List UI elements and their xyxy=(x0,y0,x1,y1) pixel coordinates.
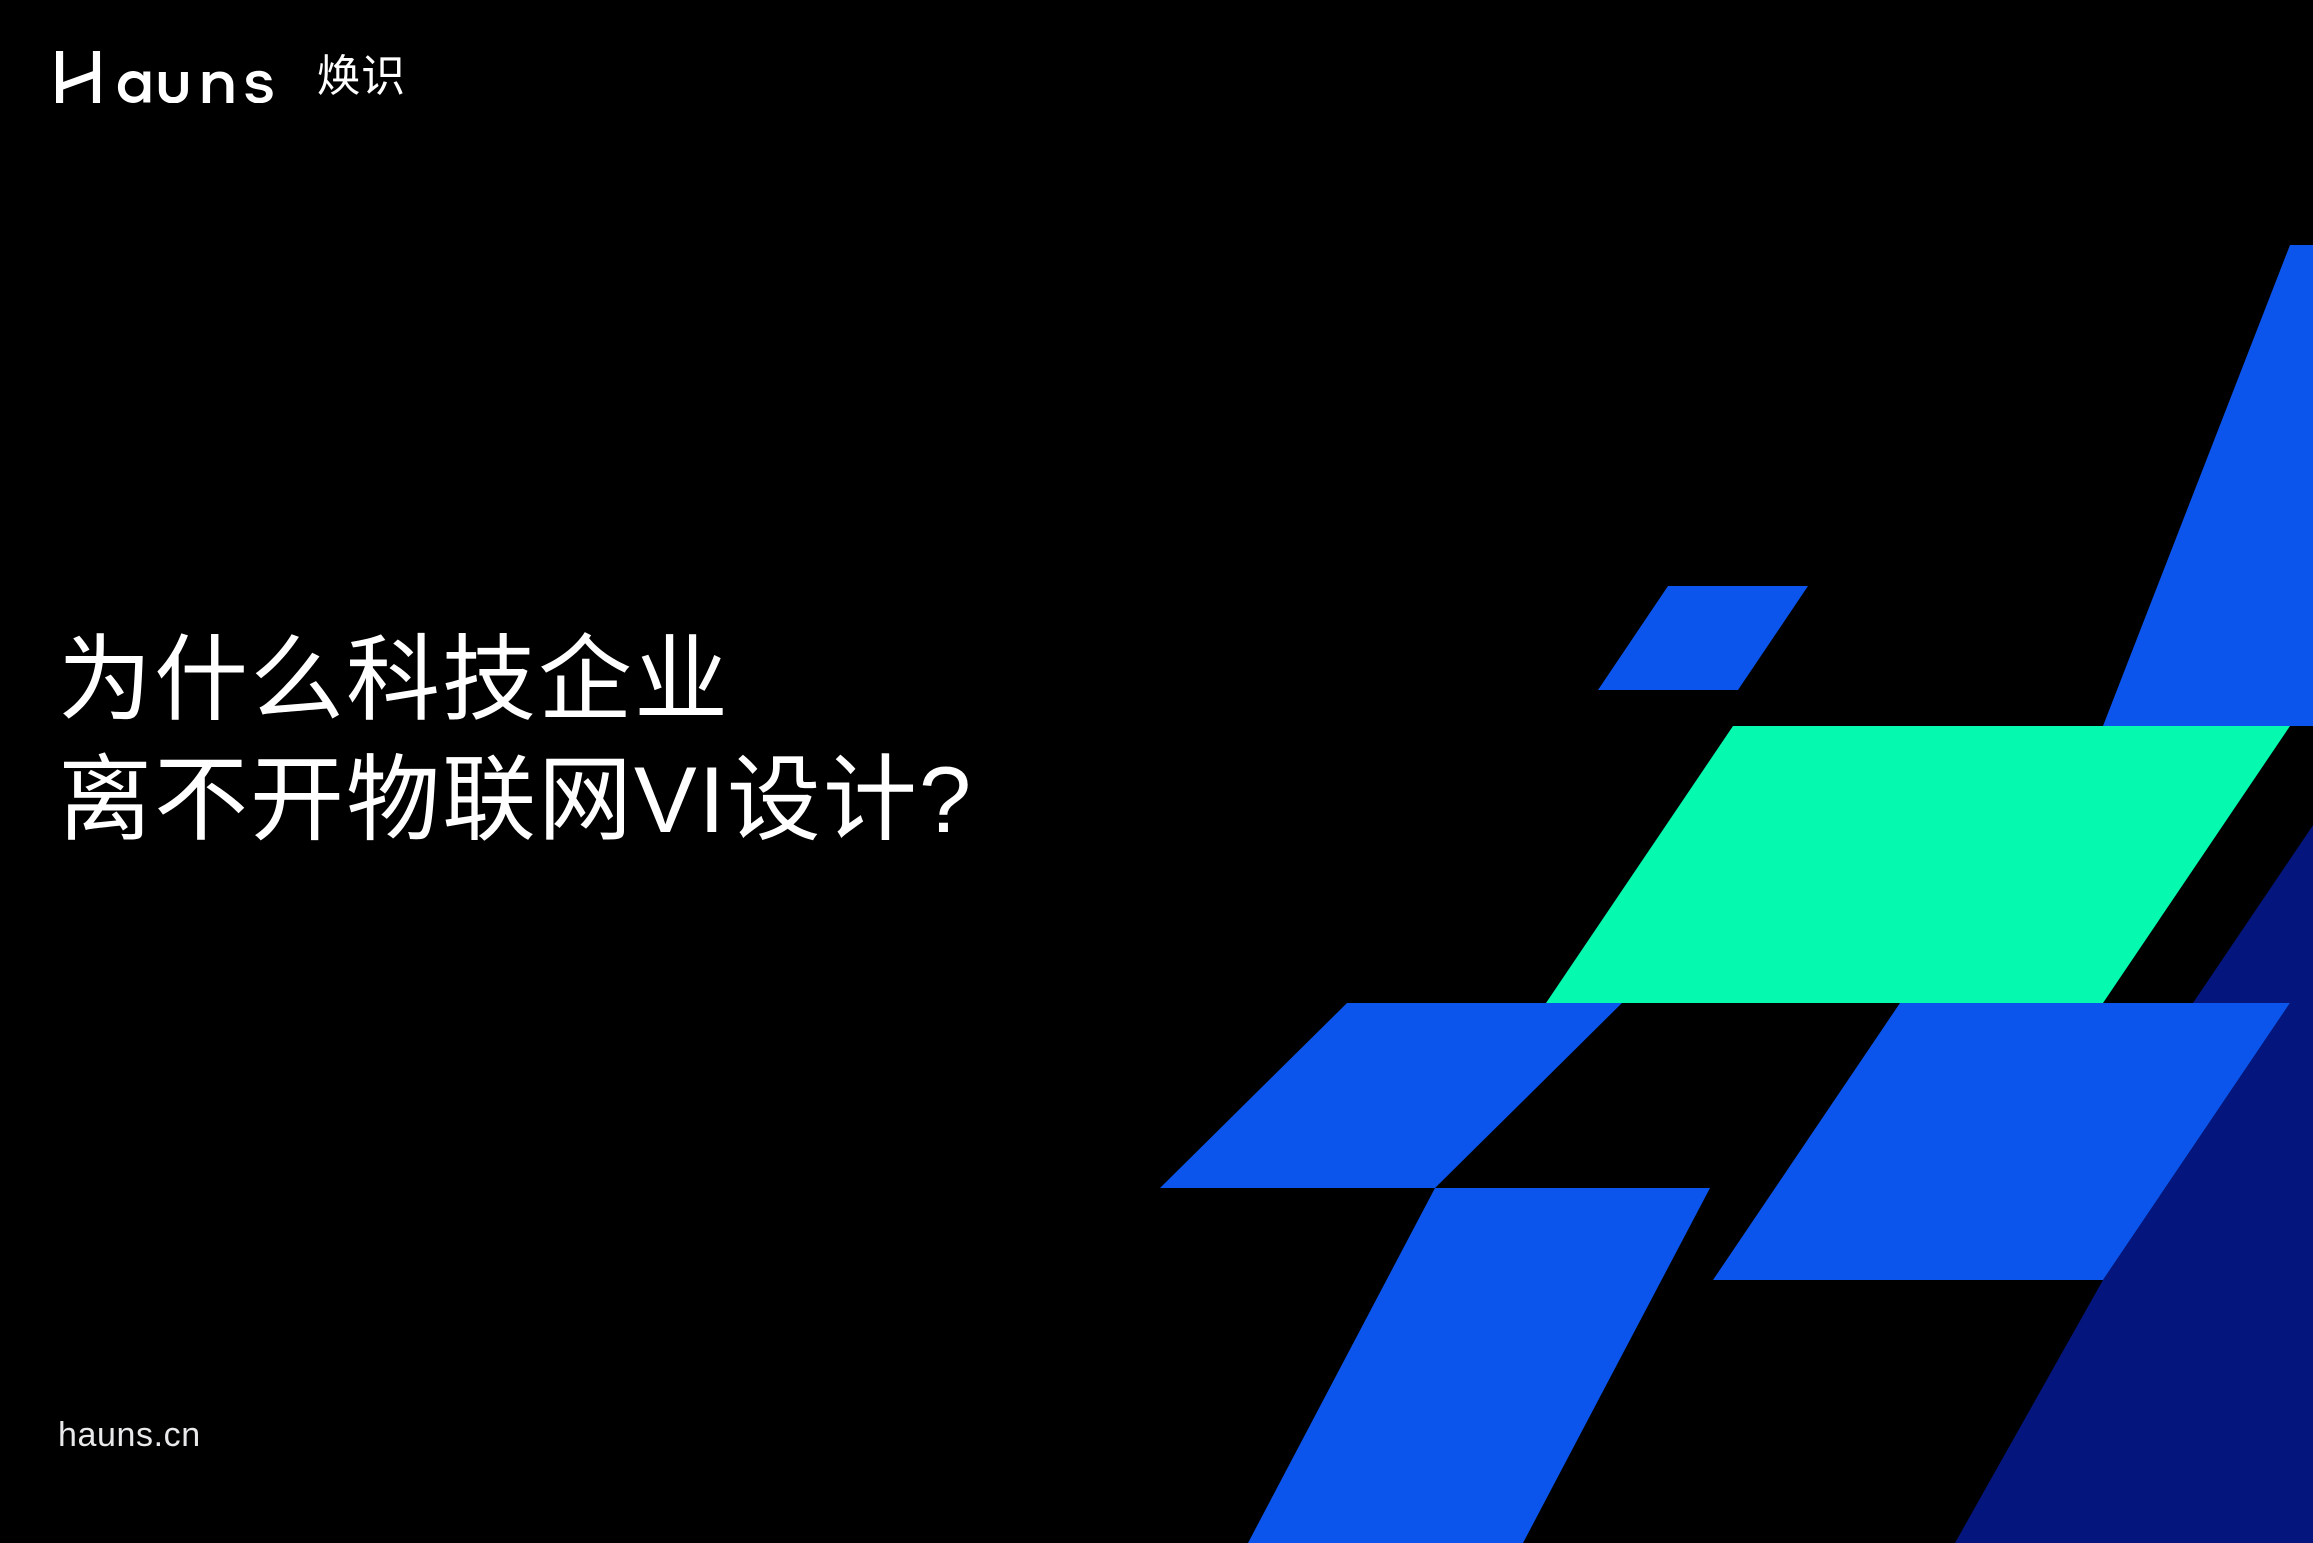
hauns-wordmark-icon xyxy=(56,51,308,103)
shape-blue-bottom-left xyxy=(1248,1188,1710,1543)
footer-website-url[interactable]: hauns.cn xyxy=(58,1418,201,1452)
poster-canvas: 焕识 为什么科技企业 离不开物联网VI设计? hauns.cn xyxy=(0,0,2313,1543)
headline-line-1: 为什么科技企业 xyxy=(58,620,973,740)
shape-blue-top-right xyxy=(2103,245,2313,726)
shape-blue-small-top xyxy=(1598,586,1808,690)
brand-logo-cn-label: 焕识 xyxy=(317,55,406,99)
shape-navy-bottom xyxy=(1955,1280,2313,1543)
shape-blue-left-mid xyxy=(1160,1003,1622,1188)
page-title: 为什么科技企业 离不开物联网VI设计? xyxy=(58,620,973,861)
headline-line-2: 离不开物联网VI设计? xyxy=(58,740,973,860)
shape-navy-mid-right xyxy=(2103,1003,2313,1280)
shape-green-center xyxy=(1546,726,2290,1003)
shape-navy-right-mid xyxy=(2193,726,2313,1003)
shape-blue-center-mid xyxy=(1713,1003,2290,1280)
brand-logo[interactable]: 焕识 xyxy=(56,44,406,110)
